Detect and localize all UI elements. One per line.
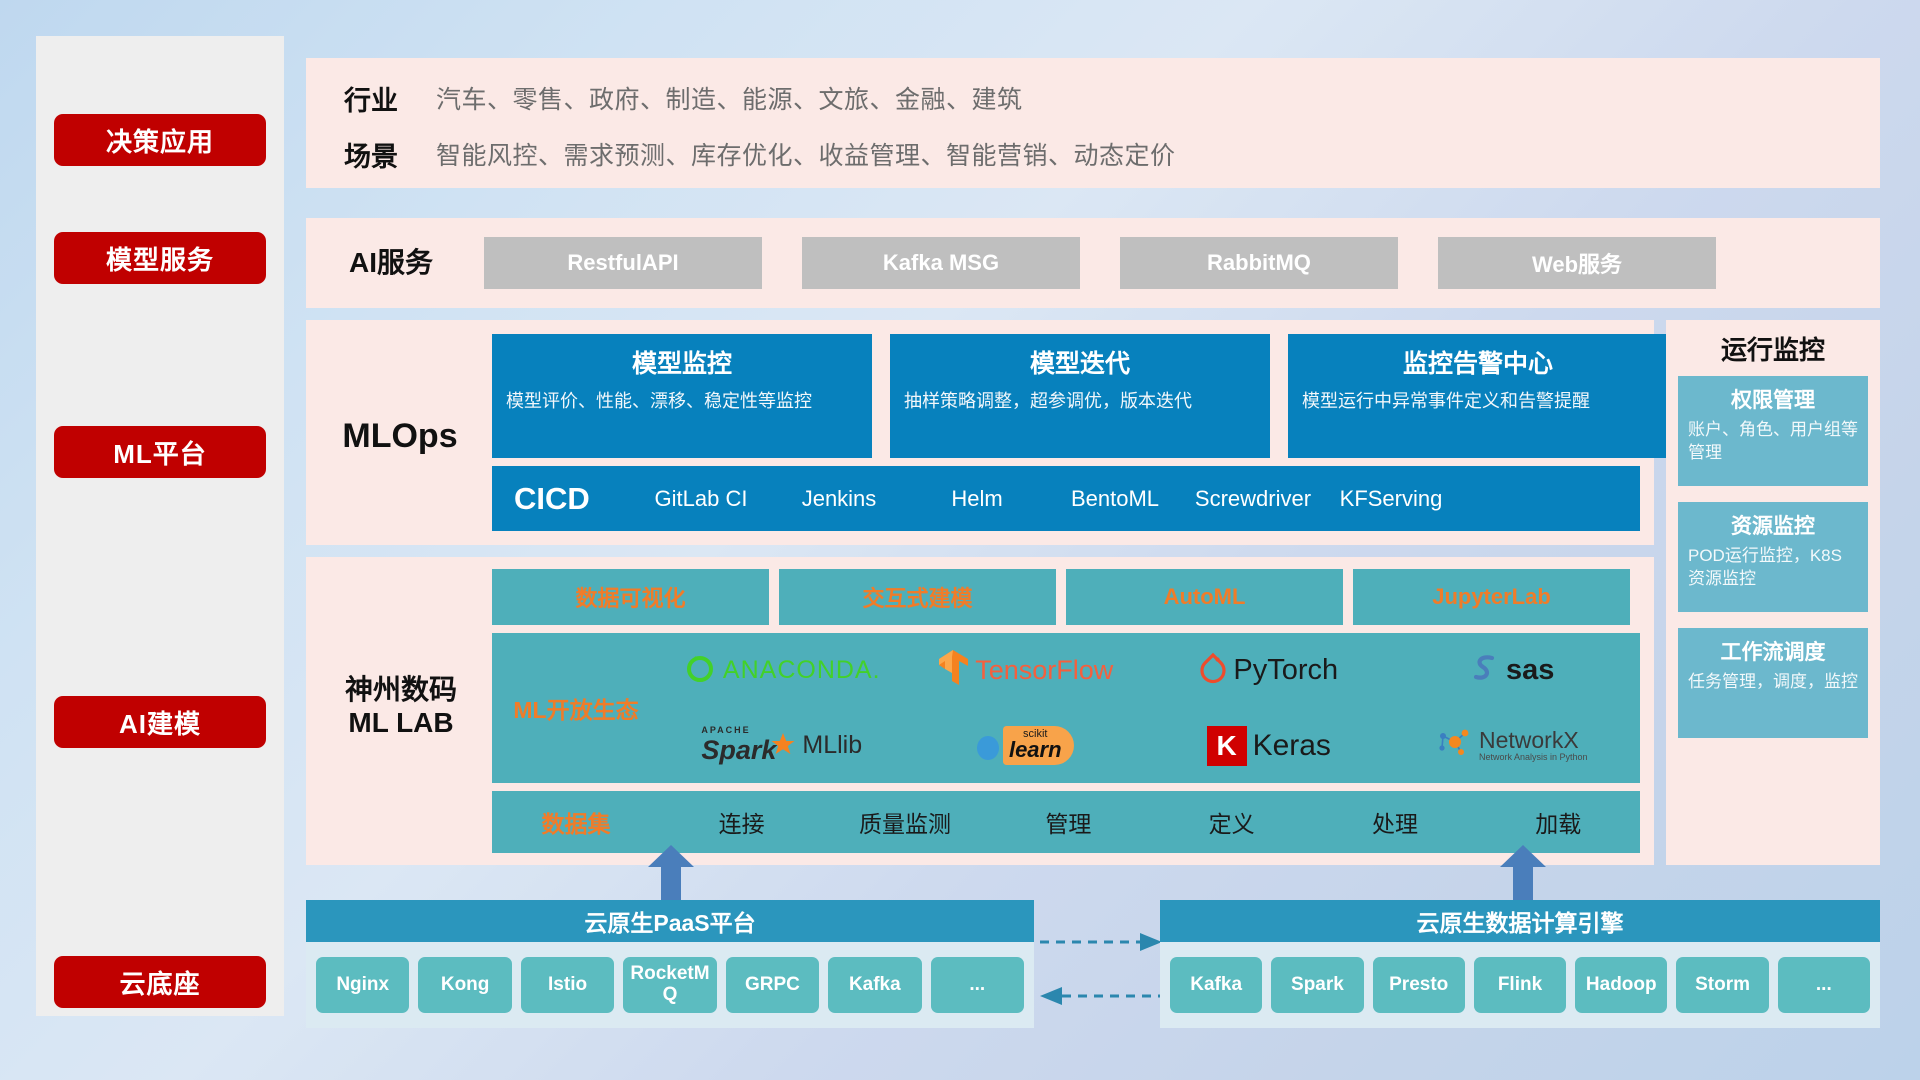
cloud-compute-group: 云原生数据计算引擎 Kafka Spark Presto Flink Hadoo… xyxy=(1160,900,1880,1028)
cloud-chip-kafka[interactable]: Kafka xyxy=(1170,957,1262,1013)
spark-logo: APACHE Spark xyxy=(701,725,796,766)
scenario-row: 场景 智能风控、需求预测、库存优化、收益管理、智能营销、动态定价 xyxy=(306,128,1880,180)
cicd-item-gitlab-ci[interactable]: GitLab CI xyxy=(632,483,770,515)
ai-service-chip-kafka-msg[interactable]: Kafka MSG xyxy=(802,237,1080,289)
monitoring-card-title: 工作流调度 xyxy=(1688,636,1858,666)
mlops-card-model-iteration[interactable]: 模型迭代 抽样策略调整，超参调优，版本迭代 xyxy=(890,334,1270,458)
keras-mark: K xyxy=(1216,730,1236,762)
rail-item-decision-apps[interactable]: 决策应用 xyxy=(54,114,266,166)
cicd-item-screwdriver[interactable]: Screwdriver xyxy=(1184,483,1322,515)
rail-item-label: 云底座 xyxy=(119,964,200,1001)
cloud-chip-istio[interactable]: Istio xyxy=(521,957,614,1013)
up-arrow-icon-paas xyxy=(648,845,694,901)
cicd-bar: CICD GitLab CI Jenkins Helm BentoML Scre… xyxy=(492,466,1640,531)
mlops-panel: MLOps 模型监控 模型评价、性能、漂移、稳定性等监控 模型迭代 抽样策略调整… xyxy=(306,320,1654,545)
ml-ecosystem-logo-grid: ANACONDA. TensorFlow PyTorch xyxy=(660,633,1640,783)
cloud-chip-grpc[interactable]: GRPC xyxy=(726,957,819,1013)
industry-value: 汽车、零售、政府、制造、能源、文旅、金融、建筑 xyxy=(436,80,1023,116)
cloud-paas-chip-list: Nginx Kong Istio RocketMQ GRPC Kafka ... xyxy=(306,942,1034,1028)
dataset-item-quality[interactable]: 质量监测 xyxy=(823,805,986,839)
left-rail: 决策应用 模型服务 ML平台 AI建模 云底座 xyxy=(36,36,284,1016)
rail-item-label: ML平台 xyxy=(113,434,207,471)
logo-label: TensorFlow xyxy=(975,655,1113,686)
cloud-chip-rocketmq[interactable]: RocketMQ xyxy=(623,957,716,1013)
mlops-card-desc: 抽样策略调整，超参调优，版本迭代 xyxy=(904,389,1256,413)
logo-label: Keras xyxy=(1253,729,1331,763)
monitoring-card-resources[interactable]: 资源监控 POD运行监控，K8S资源监控 xyxy=(1678,502,1868,612)
networkx-tagline: Network Analysis in Python xyxy=(1479,752,1588,762)
scenario-value: 智能风控、需求预测、库存优化、收益管理、智能营销、动态定价 xyxy=(436,136,1176,172)
cloud-chip-flink[interactable]: Flink xyxy=(1474,957,1566,1013)
monitoring-card-desc: 任务管理，调度，监控 xyxy=(1688,671,1858,694)
runtime-monitoring-panel: 运行监控 权限管理 账户、角色、用户组等管理 资源监控 POD运行监控，K8S资… xyxy=(1666,320,1880,865)
industry-row: 行业 汽车、零售、政府、制造、能源、文旅、金融、建筑 xyxy=(306,72,1880,124)
dataset-item-connect[interactable]: 连接 xyxy=(660,805,823,839)
decision-applications-panel: 行业 汽车、零售、政府、制造、能源、文旅、金融、建筑 场景 智能风控、需求预测、… xyxy=(306,58,1880,188)
cloud-paas-title: 云原生PaaS平台 xyxy=(306,900,1034,942)
logo-scikit-learn[interactable]: scikit learn xyxy=(977,726,1074,766)
monitoring-card-permissions[interactable]: 权限管理 账户、角色、用户组等管理 xyxy=(1678,376,1868,486)
cloud-chip-more[interactable]: ... xyxy=(931,957,1024,1013)
dataset-title: 数据集 xyxy=(492,805,660,839)
spark-wordmark: Spark xyxy=(701,735,776,766)
scikit-logo: scikit learn xyxy=(977,726,1074,766)
dataset-item-define[interactable]: 定义 xyxy=(1150,805,1313,839)
mlops-card-alert-center[interactable]: 监控告警中心 模型运行中异常事件定义和告警提醒 xyxy=(1288,334,1668,458)
ml-lab-tab-interactive-modeling[interactable]: 交互式建模 xyxy=(779,569,1056,625)
cloud-chip-hadoop[interactable]: Hadoop xyxy=(1575,957,1667,1013)
mlops-card-desc: 模型评价、性能、漂移、稳定性等监控 xyxy=(506,389,858,413)
cloud-chip-presto[interactable]: Presto xyxy=(1373,957,1465,1013)
logo-label: sas xyxy=(1506,654,1554,687)
mlops-card-title: 模型监控 xyxy=(506,344,858,380)
ml-lab-tab-data-visualization[interactable]: 数据可视化 xyxy=(492,569,769,625)
rail-item-cloud-base[interactable]: 云底座 xyxy=(54,956,266,1008)
cloud-chip-kafka[interactable]: Kafka xyxy=(828,957,921,1013)
mlops-label: MLOps xyxy=(310,416,490,456)
ml-ecosystem-title: ML开放生态 xyxy=(492,691,660,725)
pytorch-logo xyxy=(1199,652,1227,689)
dataset-item-load[interactable]: 加载 xyxy=(1477,805,1640,839)
logo-label: ANACONDA. xyxy=(723,656,881,685)
logo-networkx[interactable]: NetworkX Network Analysis in Python xyxy=(1437,726,1588,765)
mlops-card-desc: 模型运行中异常事件定义和告警提醒 xyxy=(1302,389,1654,413)
cloud-chip-more[interactable]: ... xyxy=(1778,957,1870,1013)
ai-service-panel: AI服务 RestfulAPI Kafka MSG RabbitMQ Web服务 xyxy=(306,218,1880,308)
mlops-card-model-monitoring[interactable]: 模型监控 模型评价、性能、漂移、稳定性等监控 xyxy=(492,334,872,458)
industry-label: 行业 xyxy=(306,79,436,118)
monitoring-card-workflow[interactable]: 工作流调度 任务管理，调度，监控 xyxy=(1678,628,1868,738)
networkx-logo xyxy=(1437,726,1473,765)
ml-ecosystem-row: ML开放生态 ANACONDA. TensorFlow xyxy=(492,633,1640,783)
ai-service-chip-web-service[interactable]: Web服务 xyxy=(1438,237,1716,289)
ai-service-chip-list: RestfulAPI Kafka MSG RabbitMQ Web服务 xyxy=(484,237,1716,289)
ai-service-label: AI服务 xyxy=(306,246,476,279)
ml-lab-tab-list: 数据可视化 交互式建模 AutoML JupyterLab xyxy=(492,569,1630,625)
mlops-card-title: 模型迭代 xyxy=(904,344,1256,380)
tensorflow-logo xyxy=(937,649,969,692)
dataset-item-manage[interactable]: 管理 xyxy=(987,805,1150,839)
logo-spark-mllib[interactable]: APACHE Spark MLlib xyxy=(701,725,862,766)
logo-anaconda[interactable]: ANACONDA. xyxy=(683,651,881,690)
ml-lab-tab-automl[interactable]: AutoML xyxy=(1066,569,1343,625)
cicd-item-jenkins[interactable]: Jenkins xyxy=(770,483,908,515)
monitoring-card-desc: POD运行监控，K8S资源监控 xyxy=(1688,545,1858,591)
cloud-chip-storm[interactable]: Storm xyxy=(1676,957,1768,1013)
anaconda-logo xyxy=(683,651,717,690)
mlops-card-list: 模型监控 模型评价、性能、漂移、稳定性等监控 模型迭代 抽样策略调整，超参调优，… xyxy=(492,334,1668,458)
logo-sas[interactable]: sas xyxy=(1470,652,1554,689)
dataset-item-process[interactable]: 处理 xyxy=(1313,805,1476,839)
up-arrow-icon-compute xyxy=(1500,845,1546,901)
rail-item-ai-modeling[interactable]: AI建模 xyxy=(54,696,266,748)
cloud-paas-group: 云原生PaaS平台 Nginx Kong Istio RocketMQ GRPC… xyxy=(306,900,1034,1028)
monitoring-card-title: 资源监控 xyxy=(1688,510,1858,540)
logo-keras[interactable]: K Keras xyxy=(1207,726,1331,766)
cicd-item-list: GitLab CI Jenkins Helm BentoML Screwdriv… xyxy=(632,483,1640,515)
scenario-label: 场景 xyxy=(306,135,436,174)
logo-pytorch[interactable]: PyTorch xyxy=(1199,652,1338,689)
rail-item-label: AI建模 xyxy=(119,704,201,741)
logo-label: MLlib xyxy=(802,731,862,760)
cloud-compute-title: 云原生数据计算引擎 xyxy=(1160,900,1880,942)
sas-logo xyxy=(1470,652,1500,689)
ml-lab-tab-jupyterlab[interactable]: JupyterLab xyxy=(1353,569,1630,625)
cloud-compute-chip-list: Kafka Spark Presto Flink Hadoop Storm ..… xyxy=(1160,942,1880,1028)
ml-lab-label-line1: 神州数码 xyxy=(310,673,492,706)
cloud-chip-kong[interactable]: Kong xyxy=(418,957,511,1013)
bidirectional-dashed-arrows xyxy=(1038,928,1164,1010)
logo-tensorflow[interactable]: TensorFlow xyxy=(937,649,1113,692)
logo-label: NetworkX xyxy=(1479,729,1588,752)
dataset-item-list: 连接 质量监测 管理 定义 处理 加载 xyxy=(660,805,1640,839)
runtime-monitoring-title: 运行监控 xyxy=(1666,330,1880,367)
rail-item-ml-platform[interactable]: ML平台 xyxy=(54,426,266,478)
ai-service-chip-restfulapi[interactable]: RestfulAPI xyxy=(484,237,762,289)
ai-service-chip-rabbitmq[interactable]: RabbitMQ xyxy=(1120,237,1398,289)
rail-item-label: 模型服务 xyxy=(106,240,214,277)
cloud-chip-spark[interactable]: Spark xyxy=(1271,957,1363,1013)
rail-item-label: 决策应用 xyxy=(106,122,214,159)
logo-label: learn xyxy=(1009,740,1062,761)
dataset-row: 数据集 连接 质量监测 管理 定义 处理 加载 xyxy=(492,791,1640,853)
rail-item-model-service[interactable]: 模型服务 xyxy=(54,232,266,284)
monitoring-card-desc: 账户、角色、用户组等管理 xyxy=(1688,419,1858,465)
logo-label: PyTorch xyxy=(1233,654,1338,687)
monitoring-card-title: 权限管理 xyxy=(1688,384,1858,414)
ml-lab-label: 神州数码 ML LAB xyxy=(310,673,492,739)
keras-logo: K xyxy=(1207,726,1247,766)
cicd-item-bentoml[interactable]: BentoML xyxy=(1046,483,1184,515)
cloud-chip-nginx[interactable]: Nginx xyxy=(316,957,409,1013)
ml-lab-label-line2: ML LAB xyxy=(310,706,492,739)
cicd-item-helm[interactable]: Helm xyxy=(908,483,1046,515)
mlops-card-title: 监控告警中心 xyxy=(1302,344,1654,380)
cicd-title: CICD xyxy=(492,481,632,517)
cicd-item-kfserving[interactable]: KFServing xyxy=(1322,483,1460,515)
spark-apache-label: APACHE xyxy=(701,725,776,735)
ml-lab-panel: 神州数码 ML LAB 数据可视化 交互式建模 AutoML JupyterLa… xyxy=(306,557,1654,865)
